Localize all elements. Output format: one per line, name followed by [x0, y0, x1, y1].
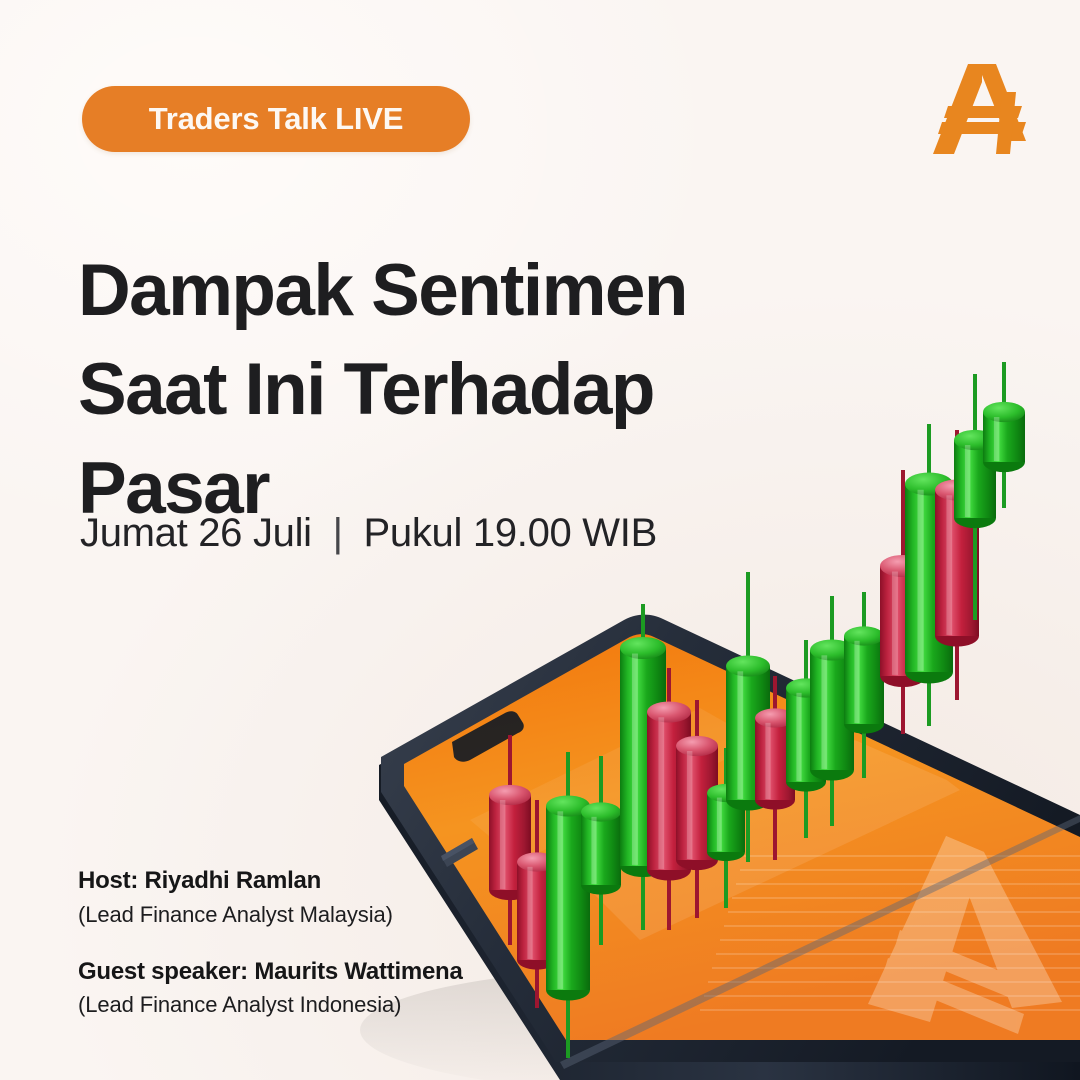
candle-9-bull [726, 572, 770, 862]
candle-body [647, 712, 691, 870]
candle-top-cap [905, 472, 953, 495]
guest-name: Guest speaker: Maurits Wattimena [78, 957, 598, 988]
candle-top-cap [880, 555, 926, 577]
candle-wick [641, 604, 645, 930]
candle-base [676, 850, 718, 870]
candle-top-cap [983, 402, 1025, 422]
candle-base [880, 665, 926, 687]
screen-watermark-a [868, 836, 1062, 1034]
event-time: Pukul 19.00 WIB [364, 511, 657, 555]
candle-base [935, 625, 979, 646]
candle-wick [830, 596, 834, 826]
candle-top-cap [786, 678, 826, 697]
headline-line-1: Dampak Sentimen [78, 241, 798, 340]
candle-5-bull [620, 604, 666, 930]
candle-wick [667, 668, 671, 930]
candle-top-cap [935, 479, 979, 500]
candle-base [786, 772, 826, 791]
candle-7-bear [676, 700, 718, 918]
candle-wick [973, 374, 977, 620]
event-date: Jumat 26 Juli [80, 511, 312, 555]
candle-highlight [854, 641, 859, 723]
candle-highlight [737, 671, 743, 799]
candle-wick [695, 700, 699, 918]
traders-talk-live-badge[interactable]: Traders Talk LIVE [82, 86, 470, 152]
candle-highlight [965, 445, 970, 517]
guest-credit: Guest speaker: Maurits Wattimena (Lead F… [78, 957, 598, 1022]
candle-base [726, 789, 770, 810]
candle-highlight [917, 490, 923, 671]
candle-10-bear [755, 676, 795, 860]
candle-body [620, 648, 666, 866]
candle-12-bull [810, 596, 854, 826]
candle-base [983, 452, 1025, 472]
candle-body [844, 636, 884, 724]
candle-highlight [821, 655, 827, 769]
candle-13-bull [844, 592, 884, 778]
candle-wick [1002, 362, 1006, 508]
candle-highlight [994, 417, 999, 461]
candle-top-cap [546, 795, 590, 816]
candle-wick [599, 756, 603, 945]
candle-base [954, 508, 996, 528]
candle-body [983, 412, 1025, 462]
candle-base [707, 843, 745, 861]
candle-wick [862, 592, 866, 778]
host-credit: Host: Riyadhi Ramlan (Lead Finance Analy… [78, 866, 598, 931]
schedule-separator: | [333, 511, 343, 556]
host-role: (Lead Finance Analyst Malaysia) [78, 899, 598, 931]
candle-body [954, 440, 996, 518]
candle-top-cap [581, 802, 621, 821]
candle-top-cap [755, 708, 795, 727]
candle-body [935, 490, 979, 636]
logo-a-icon [933, 64, 1026, 154]
candle-15-bull [905, 424, 953, 726]
headline-line-2: Saat Ini Terhadap [78, 340, 798, 439]
candle-highlight [658, 717, 664, 869]
candle-top-cap [844, 626, 884, 645]
candle-top-cap [676, 736, 718, 756]
poster-canvas: Traders Talk LIVE Dampak Sentimen Saat I… [0, 0, 1080, 1080]
candle-base [810, 759, 854, 780]
credits-block: Host: Riyadhi Ramlan (Lead Finance Analy… [78, 866, 598, 1021]
candle-16-bear [935, 430, 979, 700]
event-schedule: Jumat 26 Juli | Pukul 19.00 WIB [80, 511, 657, 556]
candle-base [905, 660, 953, 683]
candle-body [880, 566, 926, 676]
candle-base [844, 714, 884, 733]
candle-highlight [717, 798, 722, 852]
candle-top-cap [707, 784, 745, 802]
candle-highlight [632, 654, 638, 865]
brand-logo [930, 58, 1034, 158]
candle-wick [773, 676, 777, 860]
candle-wick [804, 640, 808, 838]
candle-top-cap [954, 430, 996, 450]
candle-14-bear [880, 470, 926, 734]
candle-top-cap [726, 655, 770, 676]
page-title: Dampak Sentimen Saat Ini Terhadap Pasar [78, 241, 798, 539]
candle-top-cap [647, 701, 691, 722]
candle-11-bull [786, 640, 826, 838]
candle-highlight [765, 723, 770, 799]
candle-base [755, 790, 795, 809]
candle-wick [901, 470, 905, 734]
candle-base [647, 859, 691, 880]
candle-highlight [796, 693, 801, 781]
candle-6-bear [647, 668, 691, 930]
candle-17-bull [954, 374, 996, 620]
candle-body [726, 666, 770, 800]
candle-body [905, 484, 953, 672]
candle-body [707, 793, 745, 852]
candle-8-bull [707, 748, 745, 908]
guest-role: (Lead Finance Analyst Indonesia) [78, 989, 598, 1021]
candle-highlight [687, 751, 692, 859]
candle-wick [746, 572, 750, 862]
candle-top-cap [810, 639, 854, 660]
candle-top-cap [489, 785, 531, 805]
candle-highlight [946, 495, 952, 635]
candle-18-bull [983, 362, 1025, 508]
candle-body [755, 718, 795, 800]
candle-body [676, 746, 718, 860]
candle-top-cap [620, 637, 666, 659]
candle-wick [955, 430, 959, 700]
candle-wick [927, 424, 931, 726]
candle-body [786, 688, 826, 782]
host-name: Host: Riyadhi Ramlan [78, 866, 598, 897]
candle-highlight [892, 572, 898, 675]
candle-wick [724, 748, 728, 908]
badge-label: Traders Talk LIVE [149, 101, 403, 137]
candle-body [810, 650, 854, 770]
candle-base [620, 855, 666, 877]
